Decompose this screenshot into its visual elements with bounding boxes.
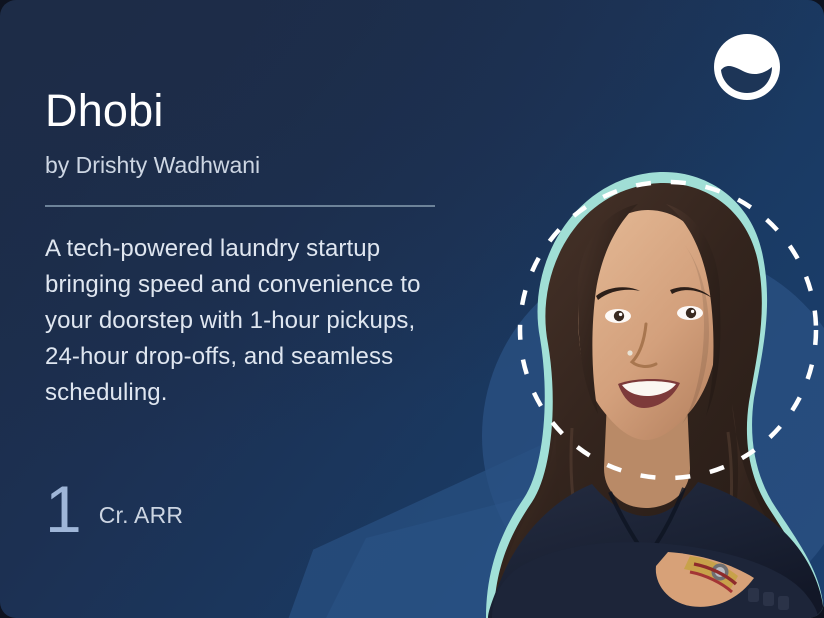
- card-content: Dhobi by Drishty Wadhwani A tech-powered…: [45, 0, 465, 618]
- brand-logo-icon: [714, 34, 780, 100]
- startup-profile-card: Dhobi by Drishty Wadhwani A tech-powered…: [0, 0, 824, 618]
- company-description: A tech-powered laundry startup bringing …: [45, 231, 445, 411]
- founder-byline: by Drishty Wadhwani: [45, 154, 260, 177]
- page-title: Dhobi: [45, 88, 164, 133]
- divider: [45, 205, 435, 207]
- metric-block: 1 Cr. ARR: [45, 479, 183, 540]
- metric-value: 1: [45, 479, 81, 540]
- metric-unit-label: Cr. ARR: [99, 502, 183, 540]
